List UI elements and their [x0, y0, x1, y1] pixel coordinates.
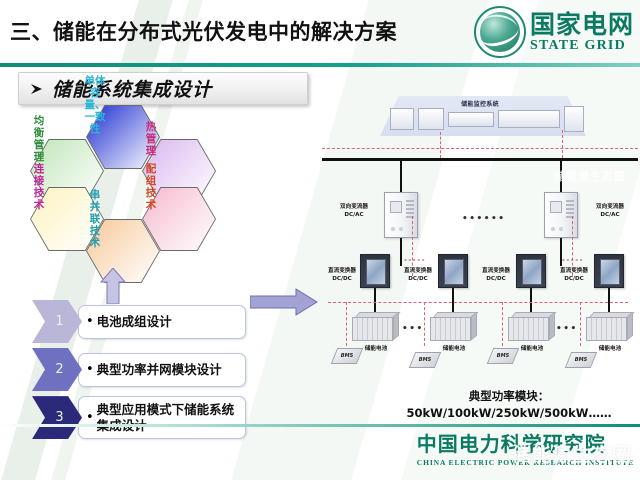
power-note-line1: 典型功率模块： — [380, 388, 638, 405]
step-box[interactable]: • 典型应用模式下储能系统集成设计 — [78, 396, 246, 439]
step-number-chevron: 3 — [32, 396, 82, 439]
watermark-secondary: 储能源生态圈 — [554, 168, 626, 184]
comms-link — [346, 302, 347, 346]
step-number-chevron: 1 — [32, 300, 82, 343]
logo-label-cn: 国家电网 — [530, 12, 634, 37]
server-icon — [498, 110, 560, 128]
battery-rack — [352, 312, 398, 342]
battery-rack — [430, 312, 476, 342]
step-box[interactable]: • 典型功率并网模块设计 — [78, 353, 246, 387]
bms-label: BMS — [412, 352, 438, 368]
step-box[interactable]: • 电池成组设计 — [78, 305, 246, 339]
step-number-chevron: 2 — [32, 348, 82, 391]
bms-label: BMS — [490, 348, 516, 364]
watermark-primary: 储能源生态圈 — [512, 440, 632, 467]
comms-link — [424, 302, 425, 346]
converter-label-en: DC/AC — [344, 212, 363, 218]
slide-header: 三、储能在分布式光伏发电中的解决方案 国家电网 STATE GRID — [0, 0, 640, 66]
right-arrow-icon — [250, 288, 318, 316]
bms-unit: BMS — [568, 352, 594, 368]
storage-system-diagram: 储能监控系统 双向变流器 DC/AC 双向变流器 — [322, 96, 638, 396]
comms-bus — [328, 302, 628, 303]
arrow-bullet-icon — [29, 81, 45, 97]
step-number: 2 — [55, 362, 63, 377]
converter-label-cn: 双向变流器 — [596, 204, 624, 210]
comms-link — [572, 216, 573, 276]
converter-label-cn: 双向变流器 — [340, 204, 368, 210]
section-subtitle-plaque: 储能系统集成设计 — [18, 72, 308, 105]
state-grid-logo: 国家电网 STATE GRID — [474, 6, 634, 58]
step-row[interactable]: 3 • 典型应用模式下储能系统集成设计 — [32, 396, 246, 439]
header-divider — [0, 63, 640, 67]
ac-busbar — [322, 158, 638, 161]
ellipsis: ----- — [562, 256, 584, 264]
ellipsis: ••• — [402, 324, 424, 334]
dcdc-label-cn: 直流变换器 — [560, 268, 588, 274]
dc-link — [400, 238, 402, 266]
bullet-icon: • — [86, 314, 94, 329]
bullet-icon: • — [86, 410, 94, 425]
step-number: 1 — [55, 314, 63, 329]
dcdc-label-cn: 直流变换器 — [482, 268, 510, 274]
step-label: 典型应用模式下储能系统集成设计 — [97, 402, 237, 433]
footer-divider — [0, 424, 640, 427]
up-arrow-icon — [100, 268, 126, 304]
dcdc-label: 直流变换器 DC/DC — [476, 268, 516, 283]
bms-unit: BMS — [412, 352, 438, 368]
bms-label: BMS — [334, 348, 360, 364]
converter-label-en: DC/AC — [600, 212, 619, 218]
dcdc-label-cn: 直流变换器 — [328, 268, 356, 274]
step-label: 电池成组设计 — [97, 314, 172, 330]
bms-label: BMS — [568, 352, 594, 368]
logo-label-en: STATE GRID — [530, 39, 634, 53]
network-switch-icon — [448, 112, 494, 127]
dcdc-label: 直流变换器 DC/DC — [554, 268, 594, 283]
battery-rack — [586, 312, 632, 342]
ellipsis: ----- — [404, 256, 426, 264]
workstation-pc-icon — [390, 108, 414, 130]
dc-dc-converter — [360, 254, 390, 288]
section-subtitle-text: 储能系统集成设计 — [52, 75, 212, 102]
comms-link — [440, 132, 441, 158]
power-note-line2: 50kW/100kW/250kW/500kW…… — [380, 405, 638, 422]
dcdc-label-en: DC/DC — [564, 276, 584, 282]
power-module-note: 典型功率模块： 50kW/100kW/250kW/500kW…… — [380, 388, 638, 421]
dc-dc-converter — [516, 254, 546, 288]
ellipsis: •••••• — [462, 214, 506, 224]
dcdc-label: 直流变换器 DC/DC — [398, 268, 438, 283]
step-row[interactable]: 1 • 电池成组设计 — [32, 300, 246, 343]
converter-label: 双向变流器 DC/AC — [584, 204, 636, 219]
comms-link — [412, 216, 413, 276]
bms-unit: BMS — [490, 348, 516, 364]
dc-dc-converter — [594, 254, 624, 288]
dcdc-label-cn: 直流变换器 — [404, 268, 432, 274]
dcdc-label-en: DC/DC — [408, 276, 428, 282]
hexagon-cluster: 单体容量、一致性 均衡管理 热管理 连接技术 配组技术 串并联技术 — [18, 105, 228, 265]
comms-link — [562, 130, 563, 158]
comms-link — [502, 302, 503, 346]
step-label: 典型功率并网模块设计 — [97, 362, 222, 378]
battery-rack — [508, 312, 554, 342]
dcdc-label-en: DC/DC — [332, 276, 352, 282]
comms-link — [580, 302, 581, 346]
monitor-icon — [418, 108, 444, 130]
bullet-icon: • — [86, 362, 94, 377]
bus-drop — [400, 158, 402, 192]
comms-bus — [322, 148, 638, 149]
converter-label: 双向变流器 DC/AC — [328, 204, 380, 219]
dc-dc-converter — [438, 254, 468, 288]
step-number: 3 — [55, 410, 63, 425]
rack-cabinet-icon — [564, 106, 584, 132]
monitoring-banner-title: 储能监控系统 — [322, 99, 638, 108]
step-row[interactable]: 2 • 典型功率并网模块设计 — [32, 348, 246, 391]
ellipsis: ••• — [556, 324, 578, 334]
page-title: 三、储能在分布式光伏发电中的解决方案 — [10, 16, 397, 46]
bms-unit: BMS — [334, 348, 360, 364]
dcdc-label: 直流变换器 DC/DC — [322, 268, 362, 283]
dcdc-label-en: DC/DC — [486, 276, 506, 282]
state-grid-globe-icon — [474, 6, 526, 58]
slide-root: 三、储能在分布式光伏发电中的解决方案 国家电网 STATE GRID 储能系统集… — [0, 0, 640, 480]
